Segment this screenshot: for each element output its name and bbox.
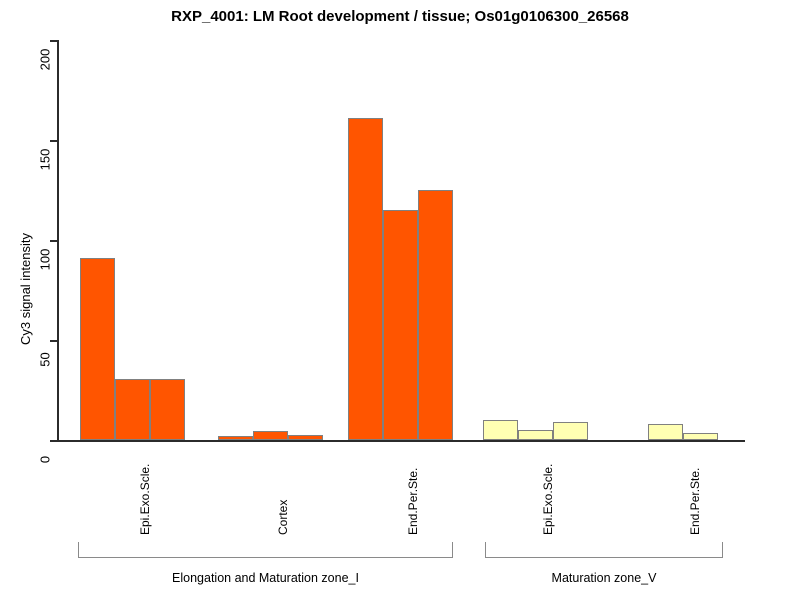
zone-bracket xyxy=(78,542,453,558)
y-axis-tick-label: 150 xyxy=(38,140,53,180)
zone-label: Elongation and Maturation zone_I xyxy=(78,571,453,585)
bar xyxy=(253,431,288,440)
bar xyxy=(115,379,150,440)
y-axis-line xyxy=(57,40,59,441)
x-axis-tick-label: Epi.Exo.Scle. xyxy=(541,464,555,535)
y-axis-tick-label: 200 xyxy=(38,40,53,80)
y-axis-label: Cy3 signal intensity xyxy=(18,233,33,345)
chart-canvas: RXP_4001: LM Root development / tissue; … xyxy=(0,0,800,600)
zone-bracket xyxy=(485,542,723,558)
bar xyxy=(383,210,418,440)
x-axis-tick-label: End.Per.Ste. xyxy=(688,468,702,535)
chart-title: RXP_4001: LM Root development / tissue; … xyxy=(0,8,800,25)
y-axis-tick-label: 100 xyxy=(38,240,53,280)
y-axis-tick-label: 0 xyxy=(38,440,53,480)
bar xyxy=(348,118,383,440)
x-axis-line xyxy=(57,440,745,442)
bar xyxy=(418,190,453,440)
x-axis-tick-label: Cortex xyxy=(276,500,290,535)
x-axis-tick-label: End.Per.Ste. xyxy=(406,468,420,535)
bar xyxy=(553,422,588,440)
y-axis-tick-label: 50 xyxy=(38,340,53,380)
x-axis-tick-label: Epi.Exo.Scle. xyxy=(138,464,152,535)
bar xyxy=(288,435,323,440)
bar xyxy=(683,433,718,440)
bar xyxy=(648,424,683,440)
zone-label: Maturation zone_V xyxy=(485,571,723,585)
bar xyxy=(150,379,185,440)
bar xyxy=(483,420,518,440)
bar xyxy=(80,258,115,440)
bar xyxy=(218,436,253,440)
bar xyxy=(518,430,553,440)
